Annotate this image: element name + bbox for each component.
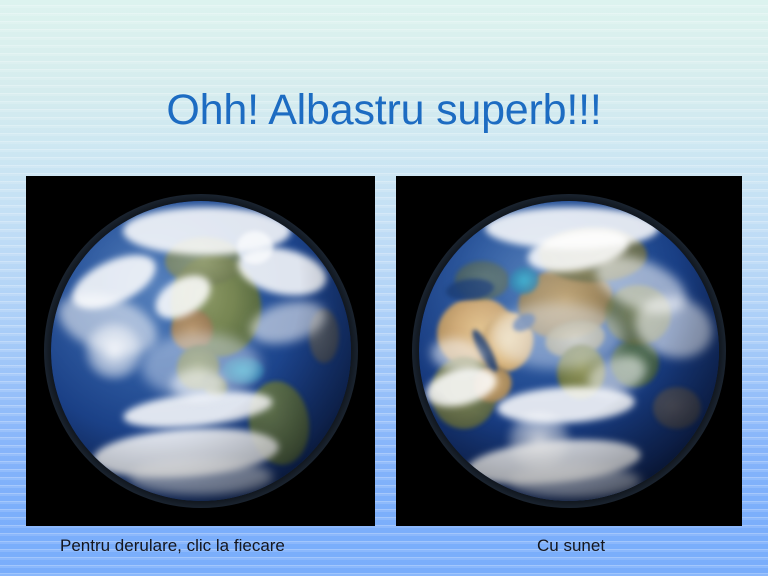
cloud-haze-overlay xyxy=(491,303,623,369)
cloud-south-polar-front xyxy=(129,459,273,495)
cloud-south-polar-front xyxy=(509,465,641,498)
cloud-low-pressure-vortex xyxy=(81,321,147,381)
globe-sphere xyxy=(419,201,719,501)
globe-eastern xyxy=(419,201,719,501)
globe-sphere xyxy=(51,201,351,501)
globe-western xyxy=(51,201,351,501)
presentation-slide: Ohh! Albastru superb!!! xyxy=(0,0,768,576)
slide-title: Ohh! Albastru superb!!! xyxy=(0,84,768,136)
earth-image-western-hemisphere[interactable] xyxy=(27,177,374,525)
cloud-gulf-system xyxy=(171,369,225,399)
caption-right: Cu sunet xyxy=(537,534,605,558)
earth-image-eastern-hemisphere[interactable] xyxy=(397,177,741,525)
land-australia-limb xyxy=(653,387,701,429)
caption-left: Pentru derulare, clic la fiecare xyxy=(60,534,285,558)
